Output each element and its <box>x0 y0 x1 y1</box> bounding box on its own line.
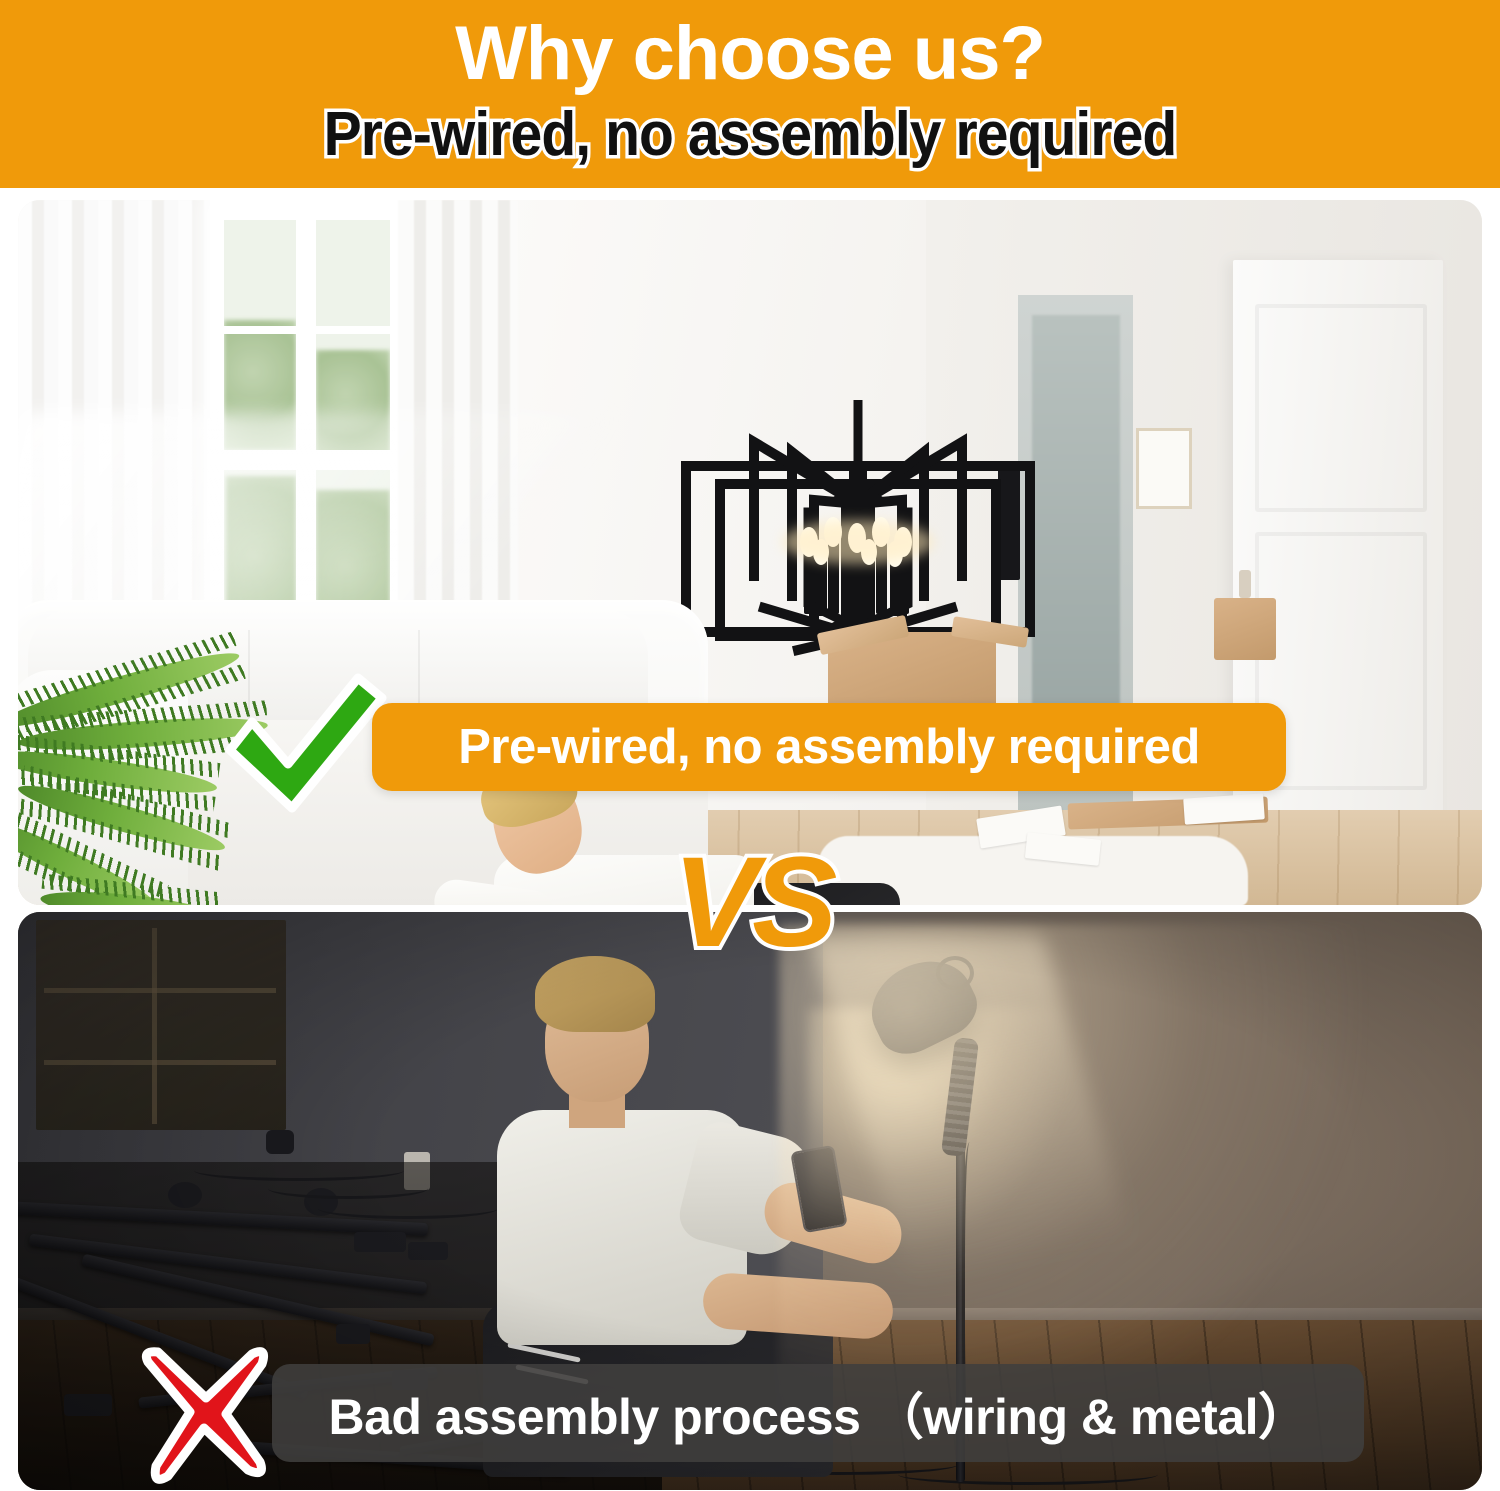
header-banner: Why choose us? Pre-wired, no assembly re… <box>0 0 1500 188</box>
good-banner-label: Pre-wired, no assembly required <box>372 719 1286 775</box>
page-title: Why choose us? <box>0 16 1500 92</box>
red-x-icon <box>134 1336 284 1486</box>
bad-banner-label: Bad assembly process （wiring & metal） <box>272 1377 1364 1449</box>
framed-picture <box>1136 428 1192 509</box>
product-comparison-image: Why choose us? Pre-wired, no assembly re… <box>0 0 1500 1490</box>
header-subtitle: Pre-wired, no assembly required <box>60 104 1440 166</box>
green-check-icon <box>222 668 390 816</box>
packing-paper <box>1183 793 1265 825</box>
good-banner: Pre-wired, no assembly required <box>372 703 1286 791</box>
bad-banner: Bad assembly process （wiring & metal） <box>272 1364 1364 1462</box>
cardboard-box-small <box>1214 598 1276 660</box>
vs-badge: VS <box>662 828 842 978</box>
